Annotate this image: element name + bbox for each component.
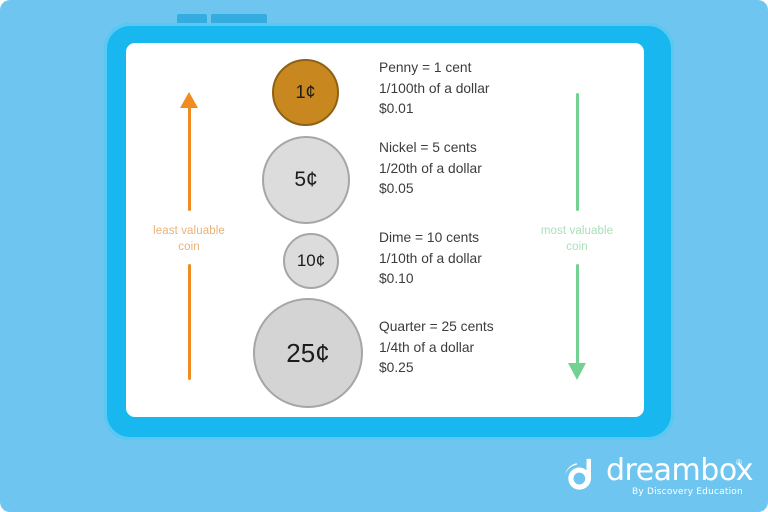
- description-dime: Dime = 10 cents 1/10th of a dollar $0.10: [379, 228, 549, 290]
- coin-dime-value: 10¢: [297, 251, 325, 271]
- description-dime-line1: Dime = 10 cents: [379, 228, 549, 249]
- dreambox-tagline: By Discovery Education: [632, 487, 743, 498]
- poster-canvas: least valuable coin most valuable coin 1…: [0, 0, 768, 512]
- description-nickel-line3: $0.05: [379, 179, 549, 200]
- coin-penny-value: 1¢: [295, 82, 315, 103]
- dreambox-trademark: ®: [736, 458, 742, 467]
- description-penny-line3: $0.01: [379, 99, 549, 120]
- arrow-line-bottom: [576, 264, 579, 364]
- least-valuable-label: least valuable coin: [134, 223, 244, 255]
- least-valuable-label-line1: least valuable: [134, 223, 244, 239]
- description-quarter-line3: $0.25: [379, 358, 549, 379]
- description-dime-line2: 1/10th of a dollar: [379, 249, 549, 270]
- dreambox-logo: dreambox ® By Discovery Education: [562, 455, 752, 501]
- least-valuable-arrow: least valuable coin: [134, 43, 244, 417]
- dreambox-mark-icon: [562, 457, 600, 495]
- description-quarter-line1: Quarter = 25 cents: [379, 317, 549, 338]
- arrow-down-icon: [568, 363, 586, 380]
- coin-nickel: 5¢: [262, 136, 350, 224]
- coin-penny: 1¢: [272, 59, 339, 126]
- description-penny-line2: 1/100th of a dollar: [379, 79, 549, 100]
- coin-quarter: 25¢: [253, 298, 363, 408]
- dreambox-wordmark: dreambox: [606, 455, 753, 487]
- coin-nickel-value: 5¢: [294, 168, 317, 192]
- description-penny-line1: Penny = 1 cent: [379, 58, 549, 79]
- arrow-line-bottom: [188, 264, 191, 380]
- description-nickel: Nickel = 5 cents 1/20th of a dollar $0.0…: [379, 138, 549, 200]
- coin-dime: 10¢: [283, 233, 339, 289]
- coin-quarter-value: 25¢: [286, 338, 329, 369]
- description-nickel-line2: 1/20th of a dollar: [379, 159, 549, 180]
- arrow-line-top: [188, 106, 191, 211]
- description-quarter: Quarter = 25 cents 1/4th of a dollar $0.…: [379, 317, 549, 379]
- arrow-line-top: [576, 93, 579, 211]
- tablet-screen: least valuable coin most valuable coin 1…: [126, 43, 644, 417]
- description-penny: Penny = 1 cent 1/100th of a dollar $0.01: [379, 58, 549, 120]
- least-valuable-label-line2: coin: [134, 239, 244, 255]
- description-dime-line3: $0.10: [379, 269, 549, 290]
- description-quarter-line2: 1/4th of a dollar: [379, 338, 549, 359]
- description-nickel-line1: Nickel = 5 cents: [379, 138, 549, 159]
